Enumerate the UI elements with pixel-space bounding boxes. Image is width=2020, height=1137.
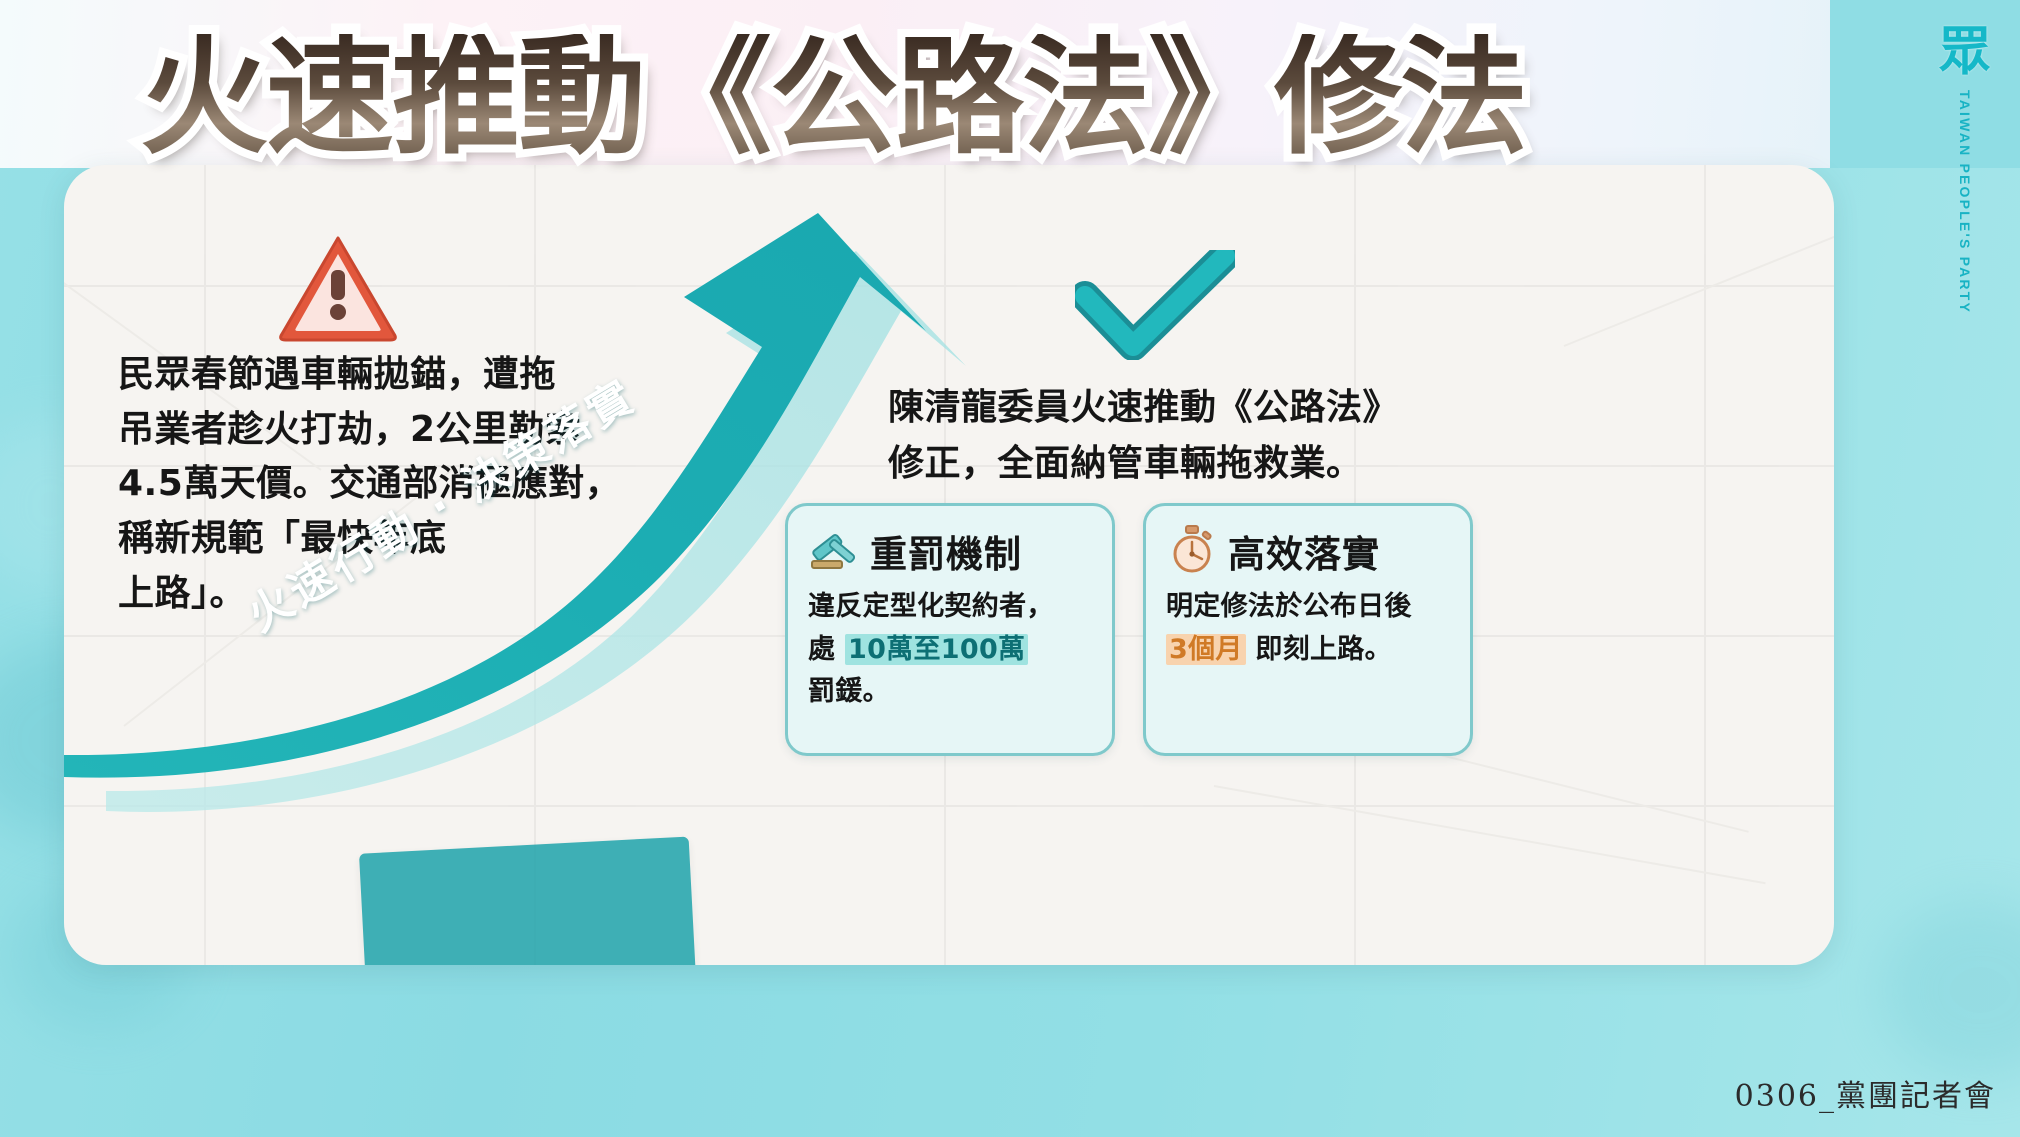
footer-caption: 0306_黨團記者會 (1735, 1071, 1996, 1115)
body-mid-prefix: 處 (808, 634, 845, 665)
warning-triangle-icon (276, 232, 400, 344)
left-line: 上路」。 (118, 567, 658, 622)
timeline-duration-highlight: 3個月 (1166, 634, 1246, 665)
body-pre: 違反定型化契約者， (808, 591, 1054, 622)
feature-card-header: 高效落實 (1166, 524, 1450, 578)
page-title: 火速推動《公路法》修法 (140, 34, 1526, 162)
right-line: 陳清龍委員火速推動《公路法》 (888, 380, 1468, 436)
logo-mark-icon: 眾 (1928, 26, 2002, 78)
feature-card-list: 重罰機制 違反定型化契約者， 處 10萬至100萬 罰鍰。 (785, 503, 1473, 756)
feature-card-penalty: 重罰機制 違反定型化契約者， 處 10萬至100萬 罰鍰。 (785, 503, 1115, 756)
penalty-amount-highlight: 10萬至100萬 (845, 634, 1028, 665)
body-post: 即刻上路。 (1246, 634, 1392, 665)
feature-card-timeline: 高效落實 明定修法於公布日後 3個月 即刻上路。 (1143, 503, 1473, 756)
logo-subtitle: TAIWAN PEOPLE'S PARTY (1957, 90, 1973, 314)
feature-card-title: 高效落實 (1228, 524, 1380, 578)
feature-card-body: 明定修法於公布日後 3個月 即刻上路。 (1166, 586, 1450, 671)
stopwatch-icon (1166, 525, 1218, 578)
feature-card-title: 重罰機制 (870, 524, 1022, 578)
feature-card-header: 重罰機制 (808, 524, 1092, 578)
gavel-icon (808, 525, 860, 578)
body-pre: 明定修法於公布日後 (1166, 591, 1412, 622)
check-mark-icon (1075, 250, 1235, 360)
party-logo: 眾 TAIWAN PEOPLE'S PARTY (1928, 26, 2002, 319)
body-post: 罰鍰。 (808, 676, 890, 707)
feature-card-body: 違反定型化契約者， 處 10萬至100萬 罰鍰。 (808, 586, 1092, 714)
infographic-stage: 火速行動 · 決策落實 火速推動《公路法》修法 火速推動《公路法》修法 民眾春節… (0, 0, 2020, 1137)
right-description: 陳清龍委員火速推動《公路法》 修正，全面納管車輛拖救業。 (888, 380, 1468, 492)
right-line: 修正，全面納管車輛拖救業。 (888, 436, 1468, 492)
